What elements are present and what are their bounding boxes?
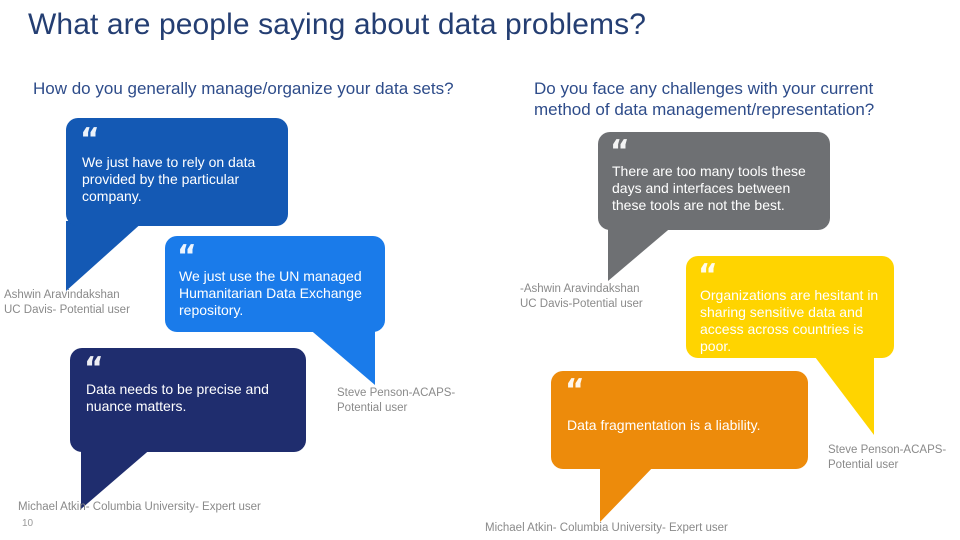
quote-mark-icon: “ [565,376,584,406]
page-title: What are people saying about data proble… [28,8,646,42]
quote-bubble-tail-6 [600,464,656,522]
quote-attribution-1: Ashwin Aravindakshan UC Davis- Potential… [4,288,130,318]
quote-bubble-4[interactable]: “ There are too many tools these days an… [598,132,830,230]
quote-bubble-tail-1 [66,221,144,291]
quote-text-2: We just use the UN managed Humanitarian … [179,268,379,319]
quote-text-4: There are too many tools these days and … [612,163,826,214]
quote-bubble-6[interactable]: “ Data fragmentation is a liability. [551,371,808,469]
quote-mark-icon: “ [84,354,103,384]
slide-page-number: 10 [22,518,33,529]
quote-attribution-5: Steve Penson-ACAPS- Potential user [828,443,946,473]
quote-bubble-tail-5 [812,353,874,435]
quote-text-5: Organizations are hesitant in sharing se… [700,287,890,355]
quote-attribution-2: Steve Penson-ACAPS- Potential user [337,386,455,416]
quote-text-3: Data needs to be precise and nuance matt… [86,381,300,415]
quote-attribution-6: Michael Atkin- Columbia University- Expe… [485,521,728,536]
quote-attribution-3: Michael Atkin- Columbia University- Expe… [18,500,261,515]
quote-bubble-2[interactable]: “ We just use the UN managed Humanitaria… [165,236,385,332]
quote-bubble-tail-2 [307,327,375,385]
slide-canvas: What are people saying about data proble… [0,0,960,540]
quote-bubble-1[interactable]: “ We just have to rely on data provided … [66,118,288,226]
quote-attribution-4: -Ashwin Aravindakshan UC Davis-Potential… [520,282,643,312]
quote-bubble-tail-4 [608,225,674,281]
question-heading-right: Do you face any challenges with your cur… [534,78,934,121]
quote-text-6: Data fragmentation is a liability. [567,417,803,434]
quote-bubble-5[interactable]: “ Organizations are hesitant in sharing … [686,256,894,358]
quote-text-1: We just have to rely on data provided by… [82,154,278,205]
quote-bubble-3[interactable]: “ Data needs to be precise and nuance ma… [70,348,306,452]
quote-mark-icon: “ [80,125,99,155]
question-heading-left: How do you generally manage/organize you… [33,78,454,99]
